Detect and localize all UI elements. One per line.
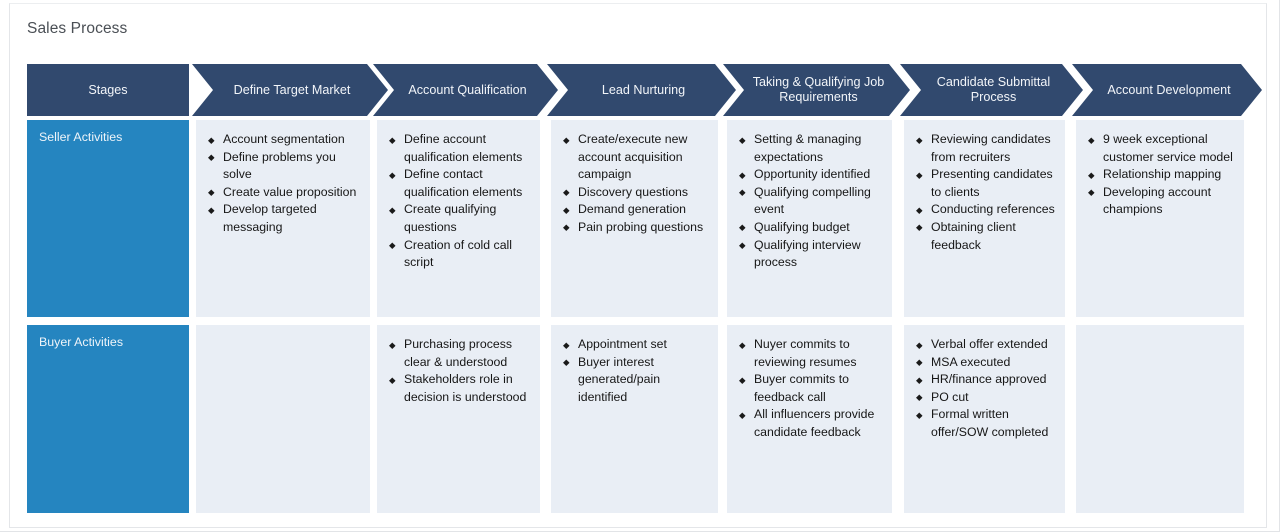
row-label-seller-activities: Seller Activities (27, 120, 189, 317)
activity-list: Purchasing process clear & understoodSta… (377, 325, 540, 414)
activity-item: Qualifying budget (739, 219, 882, 237)
activity-item: Nuyer commits to reviewing resumes (739, 336, 882, 371)
cell-buyer-activities-lead-nurturing: Appointment setBuyer interest generated/… (551, 325, 718, 513)
row-label-text: Buyer Activities (39, 335, 123, 349)
stage-header-define-target-market[interactable]: Define Target Market (192, 64, 388, 116)
activity-list: Appointment setBuyer interest generated/… (551, 325, 718, 414)
stage-header-taking-qualifying-job-requirements[interactable]: Taking & Qualifying Job Requirements (723, 64, 910, 116)
activity-item: Define problems you solve (208, 149, 360, 184)
activity-item: Create/execute new account acquisition c… (563, 131, 708, 184)
activity-list: Create/execute new account acquisition c… (551, 120, 718, 245)
activity-item: Creation of cold call script (389, 237, 530, 272)
activity-list: Nuyer commits to reviewing resumesBuyer … (727, 325, 892, 450)
stage-header-lead-nurturing[interactable]: Lead Nurturing (547, 64, 736, 116)
cell-buyer-activities-define-target-market (196, 325, 370, 513)
cell-seller-activities-account-qualification: Define account qualification elementsDef… (377, 120, 540, 317)
stage-header-label: Define Target Market (234, 83, 351, 98)
activity-item: HR/finance approved (916, 371, 1055, 389)
process-grid: StagesDefine Target MarketAccount Qualif… (0, 0, 1280, 532)
activity-item: Verbal offer extended (916, 336, 1055, 354)
activity-item: 9 week exceptional customer service mode… (1088, 131, 1234, 166)
cell-seller-activities-account-development: 9 week exceptional customer service mode… (1076, 120, 1244, 317)
stage-header-label: Account Development (1107, 83, 1230, 98)
cell-buyer-activities-account-qualification: Purchasing process clear & understoodSta… (377, 325, 540, 513)
activity-item: Presenting candidates to clients (916, 166, 1055, 201)
activity-list: Account segmentationDefine problems you … (196, 120, 370, 245)
activity-list: Verbal offer extendedMSA executedHR/fina… (904, 325, 1065, 450)
stage-header-label: Stages (88, 83, 127, 98)
row-label-buyer-activities: Buyer Activities (27, 325, 189, 513)
activity-item: Develop targeted messaging (208, 201, 360, 236)
cell-buyer-activities-account-development (1076, 325, 1244, 513)
activity-list: Reviewing candidates from recruitersPres… (904, 120, 1065, 262)
activity-item: Purchasing process clear & understood (389, 336, 530, 371)
cell-buyer-activities-taking-qualifying-job-requirements: Nuyer commits to reviewing resumesBuyer … (727, 325, 892, 513)
sales-process-page: Sales Process StagesDefine Target Market… (0, 0, 1280, 532)
activity-item: Discovery questions (563, 184, 708, 202)
activity-item: All influencers provide candidate feedba… (739, 406, 882, 441)
activity-list: Setting & managing expectationsOpportuni… (727, 120, 892, 280)
row-label-text: Seller Activities (39, 130, 122, 144)
activity-item: Obtaining client feedback (916, 219, 1055, 254)
stage-header-candidate-submittal-process[interactable]: Candidate Submittal Process (900, 64, 1083, 116)
activity-item: Account segmentation (208, 131, 360, 149)
activity-item: Define contact qualification elements (389, 166, 530, 201)
stage-header-account-development[interactable]: Account Development (1072, 64, 1262, 116)
activity-item: Create value proposition (208, 184, 360, 202)
activity-item: Buyer commits to feedback call (739, 371, 882, 406)
activity-item: Appointment set (563, 336, 708, 354)
activity-item: PO cut (916, 389, 1055, 407)
activity-item: Conducting references (916, 201, 1055, 219)
stage-header-label: Taking & Qualifying Job Requirements (751, 75, 886, 105)
stage-header-account-qualification[interactable]: Account Qualification (373, 64, 558, 116)
activity-item: Buyer interest generated/pain identified (563, 354, 708, 407)
cell-seller-activities-define-target-market: Account segmentationDefine problems you … (196, 120, 370, 317)
cell-seller-activities-taking-qualifying-job-requirements: Setting & managing expectationsOpportuni… (727, 120, 892, 317)
activity-item: Stakeholders role in decision is underst… (389, 371, 530, 406)
cell-seller-activities-lead-nurturing: Create/execute new account acquisition c… (551, 120, 718, 317)
stage-header-stages[interactable]: Stages (27, 64, 189, 116)
activity-item: Create qualifying questions (389, 201, 530, 236)
stage-header-label: Candidate Submittal Process (928, 75, 1059, 105)
activity-item: Define account qualification elements (389, 131, 530, 166)
activity-item: Developing account champions (1088, 184, 1234, 219)
cell-buyer-activities-candidate-submittal-process: Verbal offer extendedMSA executedHR/fina… (904, 325, 1065, 513)
activity-item: Relationship mapping (1088, 166, 1234, 184)
activity-item: Reviewing candidates from recruiters (916, 131, 1055, 166)
activity-item: MSA executed (916, 354, 1055, 372)
activity-list: Define account qualification elementsDef… (377, 120, 540, 280)
stage-header-label: Lead Nurturing (602, 83, 685, 98)
activity-item: Opportunity identified (739, 166, 882, 184)
cell-seller-activities-candidate-submittal-process: Reviewing candidates from recruitersPres… (904, 120, 1065, 317)
activity-item: Pain probing questions (563, 219, 708, 237)
activity-item: Qualifying compelling event (739, 184, 882, 219)
stage-header-label: Account Qualification (408, 83, 526, 98)
activity-item: Qualifying interview process (739, 237, 882, 272)
activity-list: 9 week exceptional customer service mode… (1076, 120, 1244, 227)
activity-item: Formal written offer/SOW completed (916, 406, 1055, 441)
activity-item: Setting & managing expectations (739, 131, 882, 166)
activity-item: Demand generation (563, 201, 708, 219)
